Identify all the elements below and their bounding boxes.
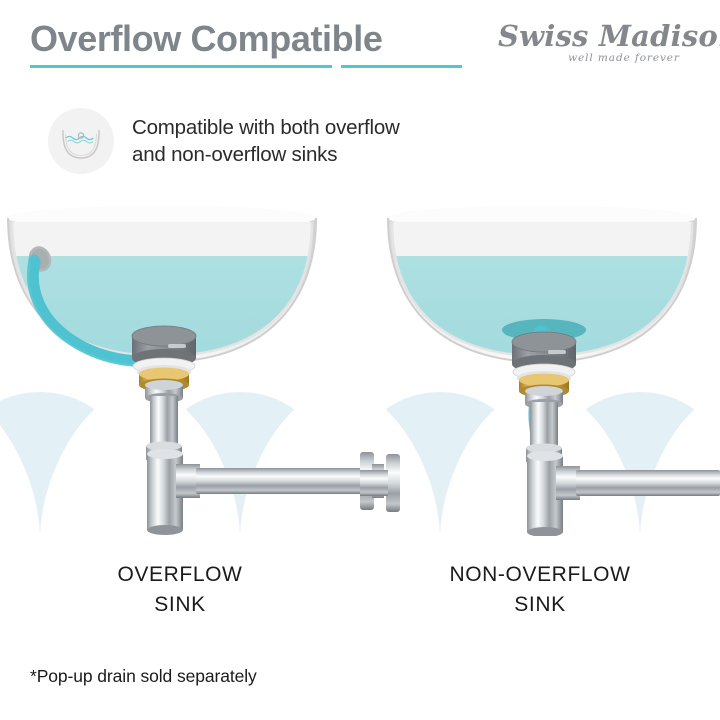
caption-overflow-line-1: OVERFLOW	[0, 560, 360, 590]
brand-tagline: well made forever	[550, 52, 698, 64]
overflow-sink-illustration	[8, 206, 384, 535]
feature-text: Compatible with both overflow and non-ov…	[132, 114, 400, 168]
feature-row: Compatible with both overflow and non-ov…	[48, 105, 528, 177]
page-title: Overflow Compatible	[30, 20, 382, 58]
title-underline	[30, 65, 462, 68]
caption-non-overflow-line-1: NON-OVERFLOW	[360, 560, 720, 590]
sink-basin-water-icon	[48, 108, 114, 174]
caption-overflow-line-2: SINK	[0, 590, 360, 620]
captions-row: OVERFLOW SINK NON-OVERFLOW SINK	[0, 560, 720, 620]
feature-badge	[48, 108, 114, 174]
sink-illustrations	[0, 196, 720, 536]
caption-overflow-sink: OVERFLOW SINK	[0, 560, 360, 620]
trap-arm	[556, 466, 720, 500]
non-overflow-sink-illustration	[360, 206, 720, 536]
brand-logo: Swiss Madison® well made forever	[498, 22, 698, 64]
title-underline-gap	[332, 65, 341, 68]
infographic-page: Overflow Compatible Swiss Madison® well …	[0, 0, 720, 720]
caption-non-overflow-sink: NON-OVERFLOW SINK	[360, 560, 720, 620]
caption-non-overflow-line-2: SINK	[360, 590, 720, 620]
feature-text-line-1: Compatible with both overflow	[132, 114, 400, 141]
footnote: *Pop-up drain sold separately	[30, 666, 257, 687]
trap-arm	[176, 452, 384, 510]
header: Overflow Compatible Swiss Madison® well …	[0, 0, 720, 92]
brand-name-wrap: Swiss Madison®	[498, 22, 698, 51]
feature-text-line-2: and non-overflow sinks	[132, 141, 400, 168]
page-title-wrap: Overflow Compatible	[30, 20, 382, 58]
brand-name: Swiss Madison	[498, 19, 720, 53]
